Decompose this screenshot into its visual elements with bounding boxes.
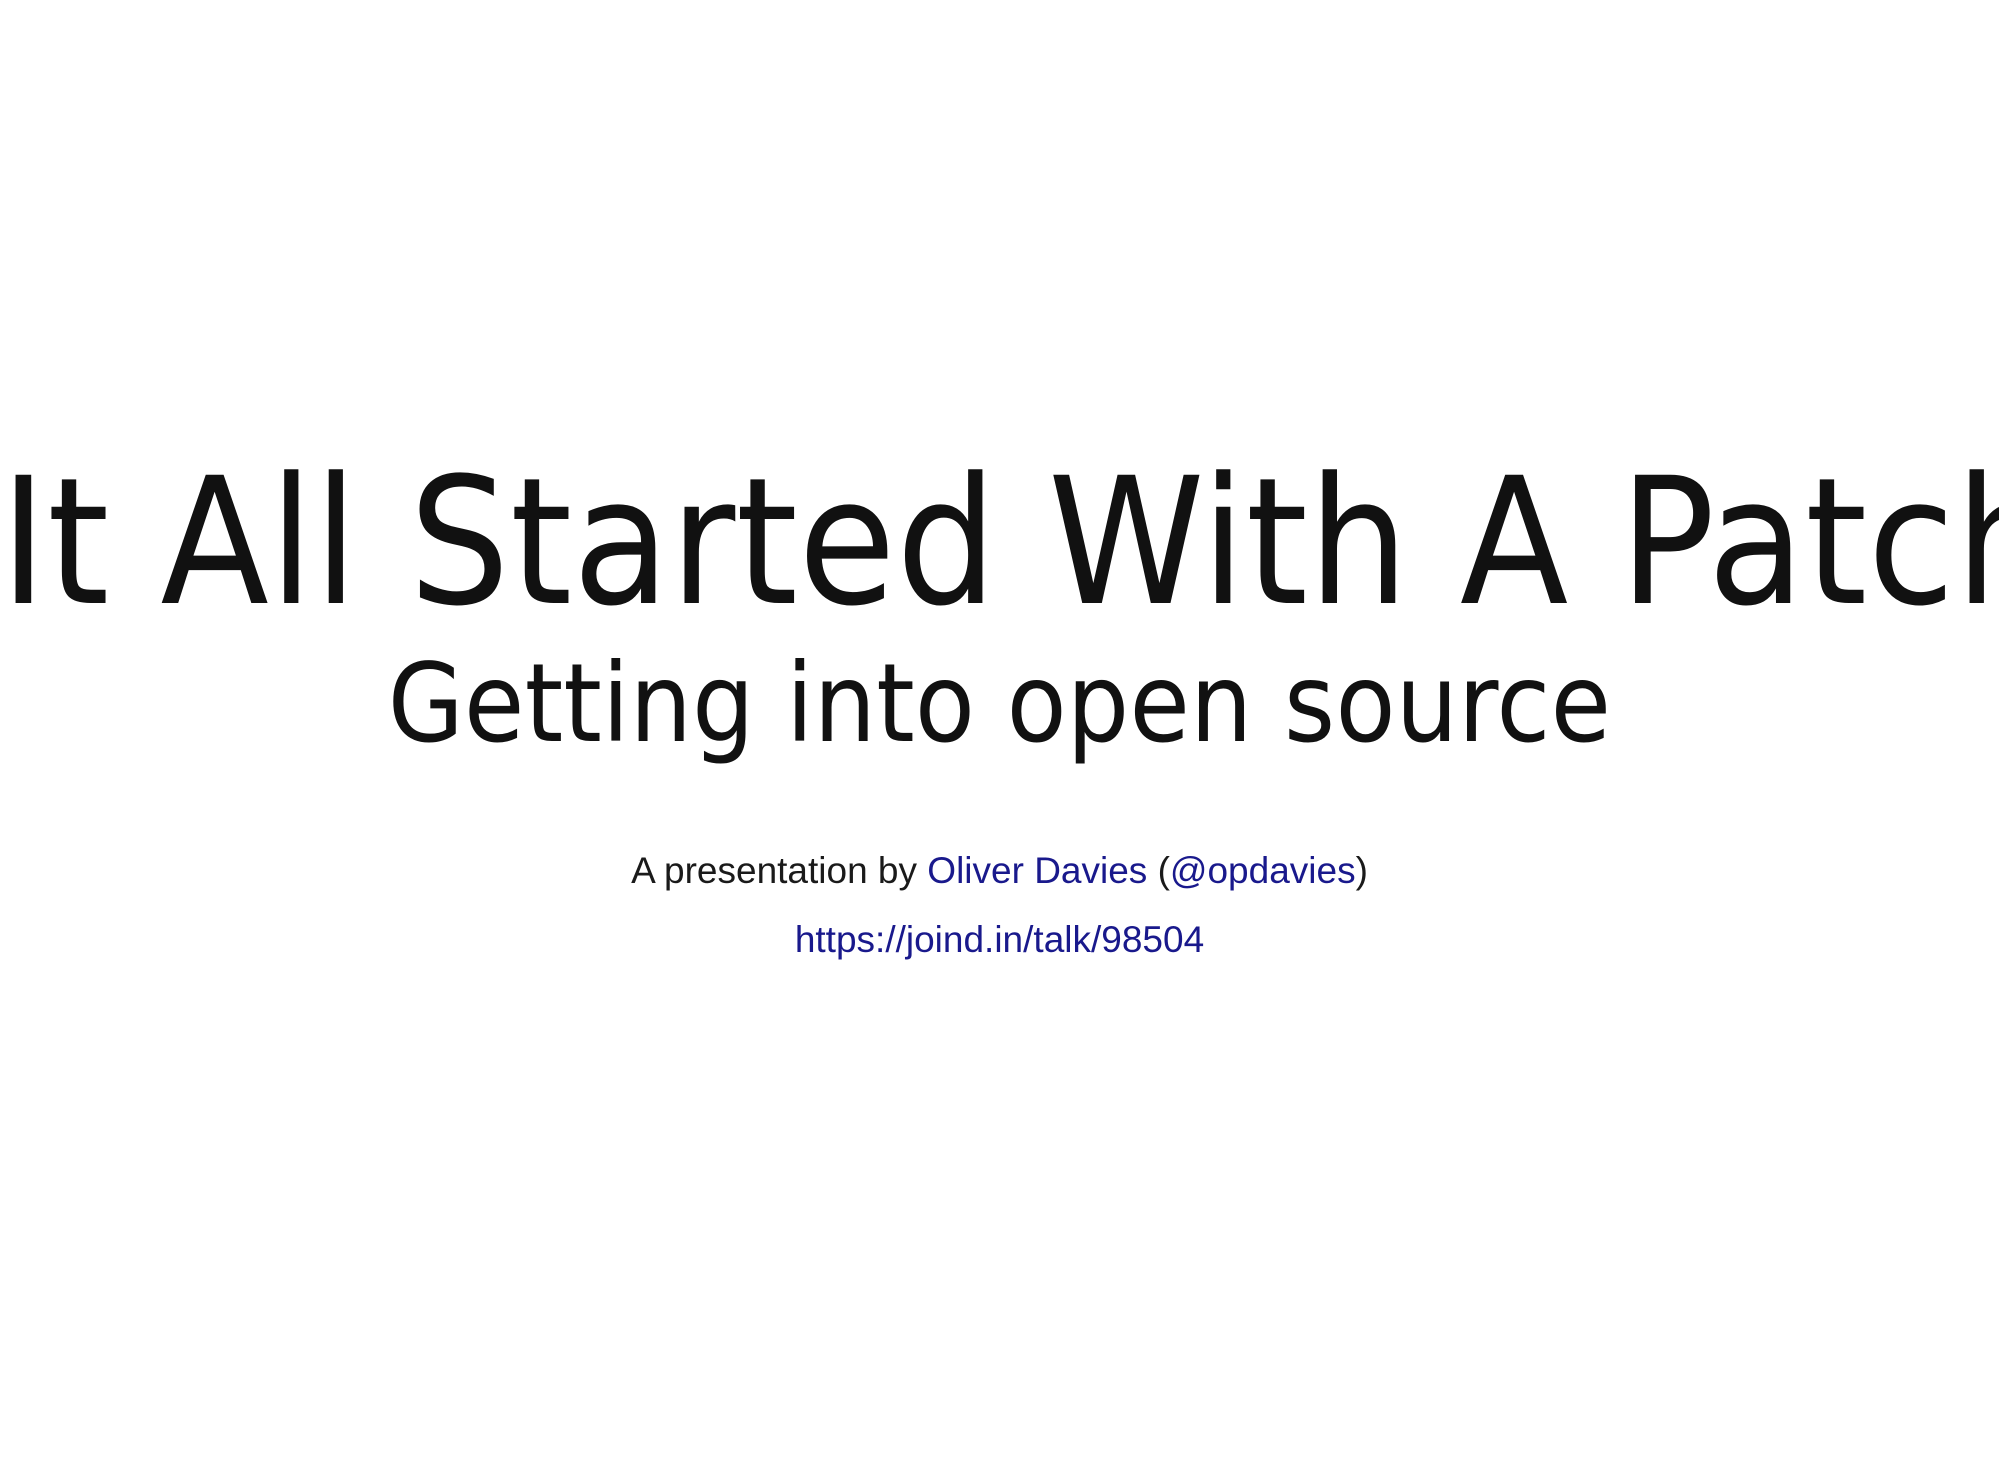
- title-block: It All Started With A Patch Getting into…: [0, 455, 1999, 758]
- talk-url-link[interactable]: https://joind.in/talk/98504: [795, 919, 1204, 960]
- author-link[interactable]: Oliver Davies: [927, 850, 1147, 891]
- credits-block: A presentation by Oliver Davies (@opdavi…: [0, 852, 1999, 958]
- page-subtitle: Getting into open source: [0, 631, 1999, 758]
- slide-canvas: It All Started With A Patch Getting into…: [0, 0, 1999, 1459]
- byline-open-paren: (: [1147, 850, 1170, 891]
- author-handle-link[interactable]: @opdavies: [1170, 850, 1356, 891]
- presentation-title-slide: It All Started With A Patch Getting into…: [0, 0, 1999, 1459]
- page-title: It All Started With A Patch: [0, 455, 1999, 631]
- talk-url-line: https://joind.in/talk/98504: [0, 889, 1999, 958]
- byline-close-paren: ): [1356, 850, 1368, 891]
- byline-prefix: A presentation by: [631, 850, 927, 891]
- byline: A presentation by Oliver Davies (@opdavi…: [0, 852, 1999, 889]
